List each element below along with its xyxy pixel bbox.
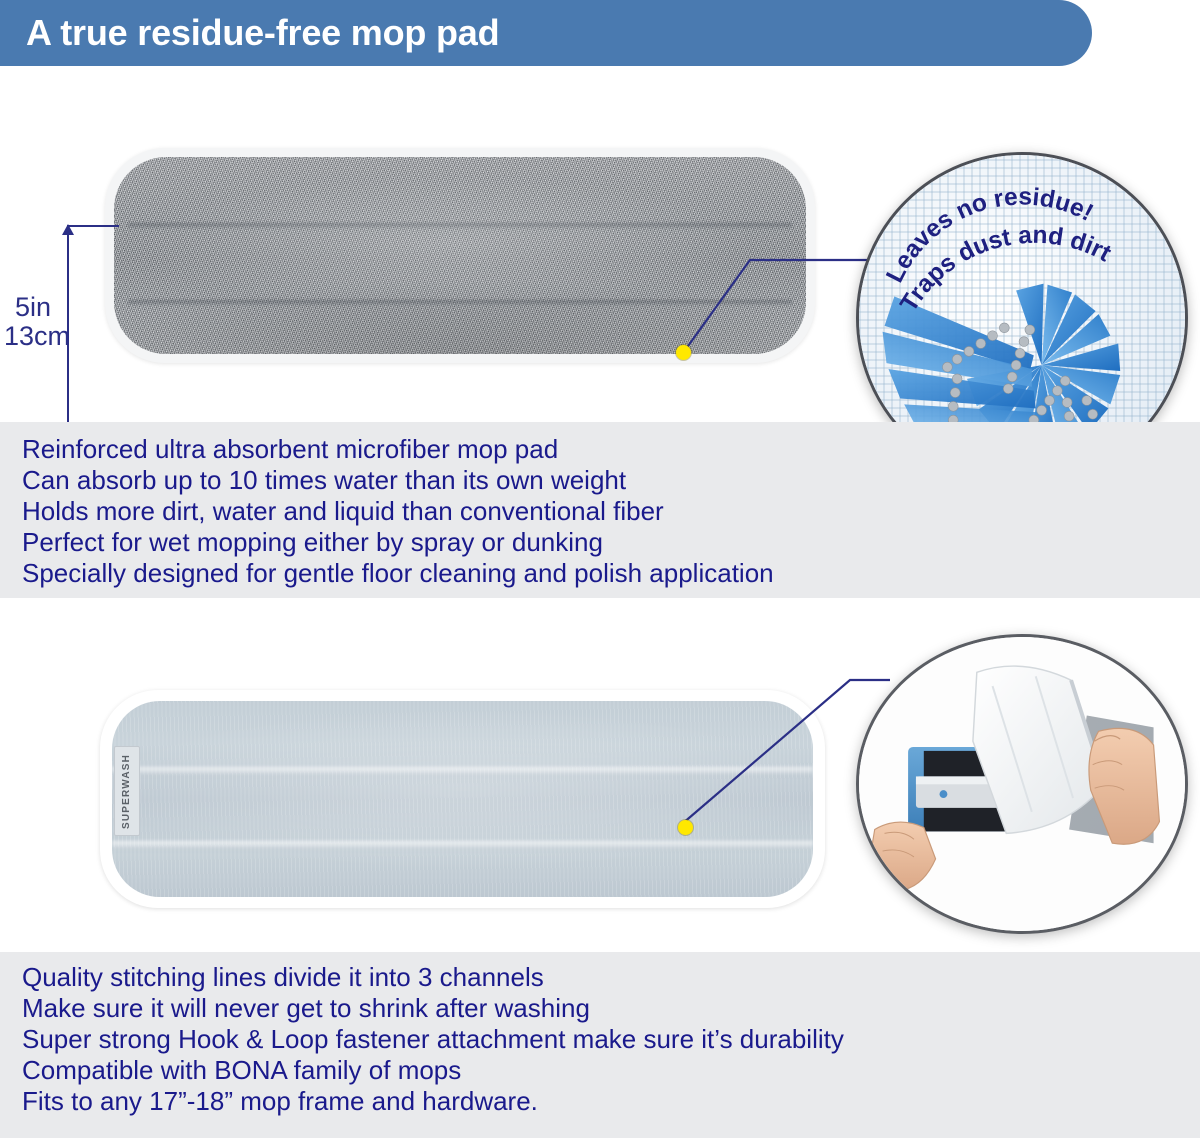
stitching-line — [112, 767, 813, 776]
feature-item: Super strong Hook & Loop fastener attach… — [22, 1024, 1200, 1055]
callout-dot-yellow — [676, 345, 691, 360]
stitching-line — [112, 841, 813, 850]
height-extension-top — [67, 225, 119, 227]
page-title: A true residue-free mop pad — [26, 12, 499, 54]
feature-item: Fits to any 17”-18” mop frame and hardwa… — [22, 1086, 1200, 1117]
height-centimeters: 13cm — [4, 322, 62, 351]
section-two-feature-list: Quality stitching lines divide it into 3… — [0, 952, 1200, 1138]
brand-tag: SUPERWASH — [114, 746, 140, 836]
photo-illustration — [859, 637, 1185, 932]
section-one-feature-list: Reinforced ultra absorbent microfiber mo… — [0, 422, 1200, 598]
product-infographic-page: A true residue-free mop pad 5in 13cm 18i… — [0, 0, 1200, 1138]
feature-item: Can absorb up to 10 times water than its… — [22, 465, 1200, 496]
hands-attaching-pad-to-mop-frame-photo — [856, 634, 1188, 934]
light-gray-velcro-backing-mop-pad: SUPERWASH — [100, 690, 825, 908]
pad-velcro-surface — [112, 701, 813, 897]
feature-item: Perfect for wet mopping either by spray … — [22, 527, 1200, 558]
header-banner: A true residue-free mop pad — [0, 0, 1092, 66]
stitching-line — [128, 300, 792, 305]
feature-item: Quality stitching lines divide it into 3… — [22, 962, 1200, 993]
section-two-visual: SUPERWASH — [0, 598, 1200, 952]
feature-item: Specially designed for gentle floor clea… — [22, 558, 1200, 589]
height-dimension-label: 5in 13cm — [4, 293, 62, 351]
section-one-visual: 5in 13cm 18in / 46cm — [0, 68, 1200, 422]
arrow-up-icon — [62, 224, 74, 235]
feature-item: Reinforced ultra absorbent microfiber mo… — [22, 434, 1200, 465]
gray-microfiber-mop-pad — [105, 148, 815, 363]
height-inches: 5in — [4, 293, 62, 322]
feature-item: Holds more dirt, water and liquid than c… — [22, 496, 1200, 527]
brand-tag-label: SUPERWASH — [122, 753, 133, 828]
feature-item: Make sure it will never get to shrink af… — [22, 993, 1200, 1024]
stitching-line — [128, 223, 792, 228]
callout-dot-yellow — [678, 820, 693, 835]
feature-item: Compatible with BONA family of mops — [22, 1055, 1200, 1086]
pad-microfiber-surface — [114, 157, 806, 354]
